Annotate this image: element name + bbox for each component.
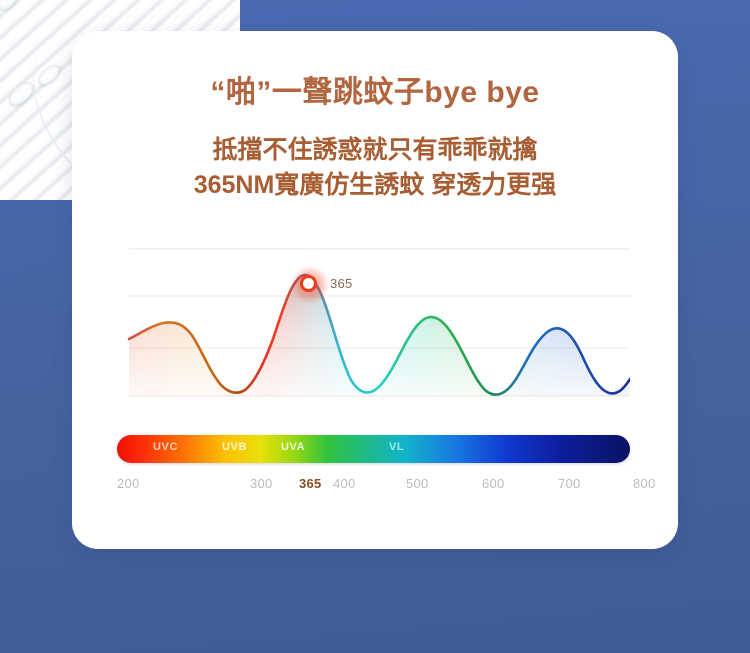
- subtitle-block: 抵擋不住誘惑就只有乖乖就擒 365NM寬廣仿生誘蚊 穿透力更强: [72, 133, 678, 202]
- chart-area-fill: [129, 275, 630, 396]
- band-label-uvb: UVB: [222, 441, 247, 453]
- spectrum-gradient-bar: UVC UVB UVA VL: [117, 435, 630, 463]
- subtitle-line-1: 抵擋不住誘惑就只有乖乖就擒: [72, 133, 678, 168]
- axis-tick-200: 200: [117, 476, 140, 491]
- axis-tick-365: 365: [299, 476, 322, 491]
- spectrum-chart-svg: [117, 238, 630, 406]
- spectrum-chart: 365: [117, 238, 630, 406]
- peak-label-365: 365: [330, 276, 353, 291]
- peak-marker-365[interactable]: [300, 275, 320, 295]
- page-title: “啪”一聲跳蚊子bye bye: [72, 67, 678, 111]
- axis-tick-500: 500: [406, 476, 429, 491]
- axis-tick-600: 600: [482, 476, 505, 491]
- axis-tick-300: 300: [250, 476, 273, 491]
- content-card: “啪”一聲跳蚊子bye bye 抵擋不住誘惑就只有乖乖就擒 365NM寬廣仿生誘…: [72, 31, 678, 549]
- band-label-uvc: UVC: [153, 441, 178, 453]
- band-label-uva: UVA: [281, 441, 305, 453]
- subtitle-line-2: 365NM寬廣仿生誘蚊 穿透力更强: [72, 168, 678, 203]
- peak-dot-icon: [300, 275, 317, 292]
- axis-tick-400: 400: [333, 476, 356, 491]
- headings-block: “啪”一聲跳蚊子bye bye 抵擋不住誘惑就只有乖乖就擒 365NM寬廣仿生誘…: [72, 31, 678, 202]
- band-label-vl: VL: [389, 441, 404, 453]
- wavelength-axis: 200 300 365 400 500 600 700 800: [117, 476, 647, 498]
- axis-tick-700: 700: [558, 476, 581, 491]
- axis-tick-800: 800: [633, 476, 656, 491]
- page-background: “啪”一聲跳蚊子bye bye 抵擋不住誘惑就只有乖乖就擒 365NM寬廣仿生誘…: [0, 0, 750, 653]
